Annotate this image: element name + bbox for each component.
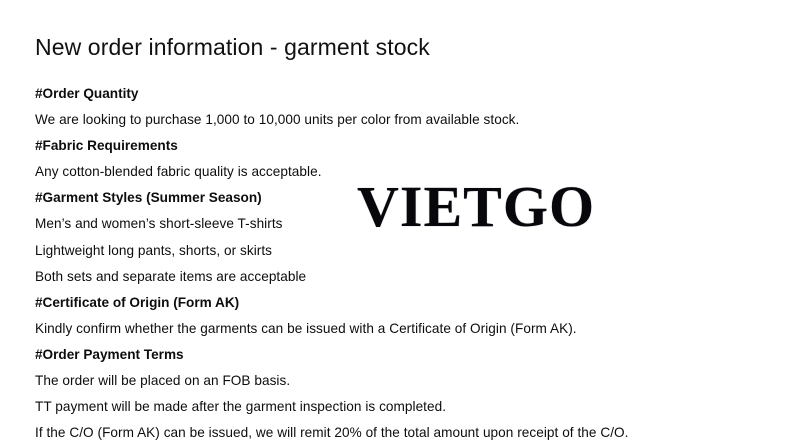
section-line-garment-styles-3: Both sets and separate items are accepta… (35, 264, 765, 290)
section-heading-order-quantity: #Order Quantity (35, 81, 765, 107)
document-page: New order information - garment stock #O… (0, 0, 800, 446)
section-line-certificate-of-origin-1: Kindly confirm whether the garments can … (35, 316, 765, 342)
document-body: #Order Quantity We are looking to purcha… (35, 81, 765, 446)
page-title: New order information - garment stock (35, 32, 430, 62)
section-heading-order-payment-terms: #Order Payment Terms (35, 342, 765, 368)
section-line-order-quantity-1: We are looking to purchase 1,000 to 10,0… (35, 107, 765, 133)
section-line-garment-styles-2: Lightweight long pants, shorts, or skirt… (35, 238, 765, 264)
section-heading-certificate-of-origin: #Certificate of Origin (Form AK) (35, 290, 765, 316)
section-heading-fabric-requirements: #Fabric Requirements (35, 133, 765, 159)
section-line-order-payment-terms-1: The order will be placed on an FOB basis… (35, 368, 765, 394)
section-line-order-payment-terms-2: TT payment will be made after the garmen… (35, 394, 765, 420)
section-line-order-payment-terms-3: If the C/O (Form AK) can be issued, we w… (35, 420, 765, 446)
vietgo-watermark: VIETGO (357, 176, 595, 238)
